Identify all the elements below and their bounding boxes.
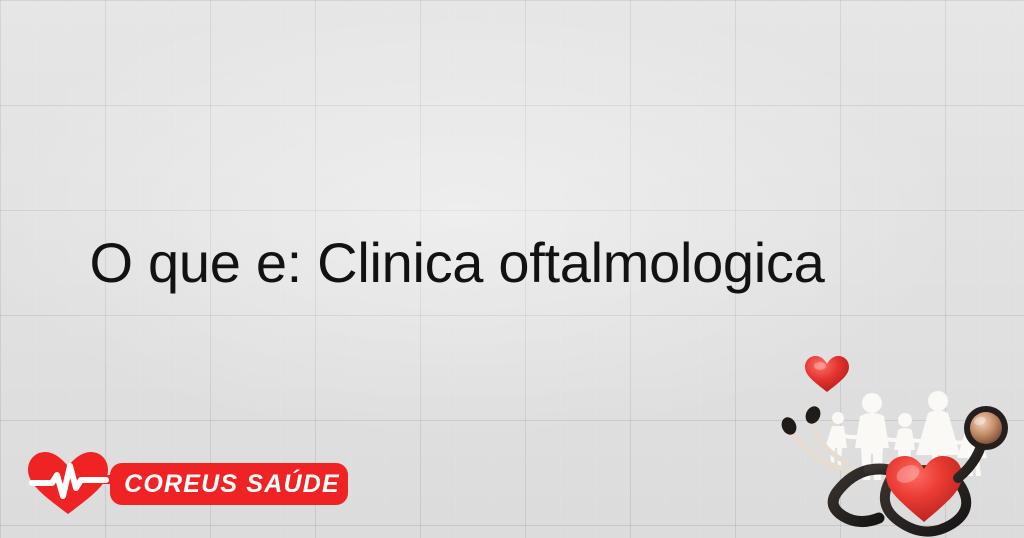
brand-name-badge: COREUS SAÚDE — [110, 463, 348, 505]
stethoscope-icon — [779, 404, 1008, 532]
slide-canvas: O que e: Clinica oftalmologica COREUS SA… — [0, 0, 1024, 538]
page-title: O que e: Clinica oftalmologica — [0, 232, 1024, 294]
heart-pulse-icon — [26, 450, 110, 516]
small-heart-icon — [805, 356, 849, 392]
brand-name-label: COREUS SAÚDE — [118, 472, 340, 497]
family-health-illustration — [772, 348, 1024, 538]
brand-logo: COREUS SAÚDE — [26, 447, 348, 517]
